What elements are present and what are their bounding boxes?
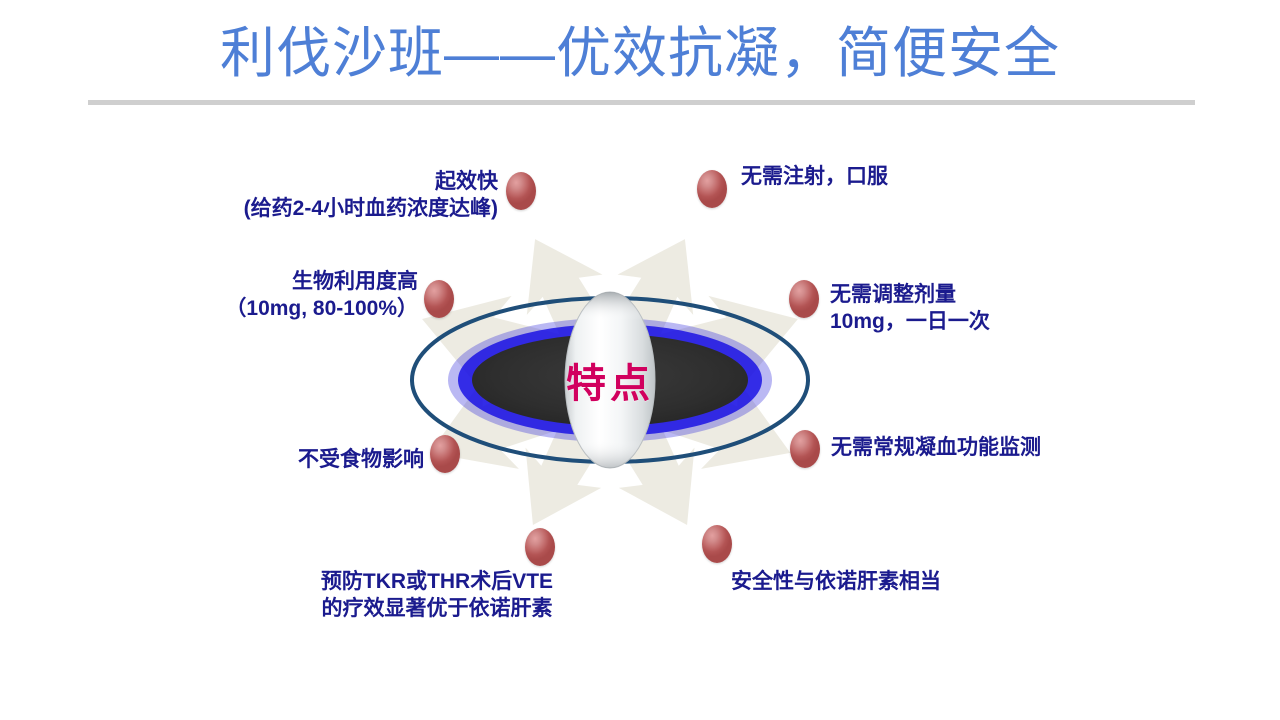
bullet-safety-vs-enoxaparin [702,525,732,563]
feature-line: 无需注射，口服 [741,163,1071,190]
feature-label-no-coagulation-monitoring: 无需常规凝血功能监测 [831,434,1211,461]
bullet-no-coagulation-monitoring [790,430,820,468]
feature-label-oral-no-injection: 无需注射，口服 [741,163,1071,190]
feature-line: (给药2-4小时血药浓度达峰) [146,195,498,222]
bullet-no-food-effect [430,435,460,473]
feature-line: 不受食物影响 [96,446,424,473]
feature-line: 无需调整剂量 [830,281,1170,308]
feature-line: （10mg, 80-100%） [80,295,418,322]
bullet-oral-no-injection [697,170,727,208]
slide-canvas: 利伐沙班——优效抗凝，简便安全 [0,0,1280,720]
feature-label-fast-onset: 起效快 (给药2-4小时血药浓度达峰) [146,168,498,222]
bullet-high-bioavailability [424,280,454,318]
feature-line: 预防TKR或THR术后VTE [274,568,600,595]
feature-label-no-dose-adjustment: 无需调整剂量 10mg，一日一次 [830,281,1170,335]
feature-label-high-bioavailability: 生物利用度高 （10mg, 80-100%） [80,268,418,322]
bullet-vte-prophylaxis-efficacy [525,528,555,566]
feature-label-safety-vs-enoxaparin: 安全性与依诺肝素相当 [700,568,972,595]
feature-label-no-food-effect: 不受食物影响 [96,446,424,473]
bullet-no-dose-adjustment [789,280,819,318]
feature-label-vte-prophylaxis-efficacy: 预防TKR或THR术后VTE 的疗效显著优于依诺肝素 [274,568,600,622]
feature-line: 起效快 [146,168,498,195]
feature-line: 无需常规凝血功能监测 [831,434,1211,461]
feature-line: 10mg，一日一次 [830,308,1170,335]
feature-line: 的疗效显著优于依诺肝素 [274,595,600,622]
feature-line: 生物利用度高 [80,268,418,295]
feature-line: 安全性与依诺肝素相当 [700,568,972,595]
center-emblem-graphic [395,285,825,475]
bullet-fast-onset [506,172,536,210]
